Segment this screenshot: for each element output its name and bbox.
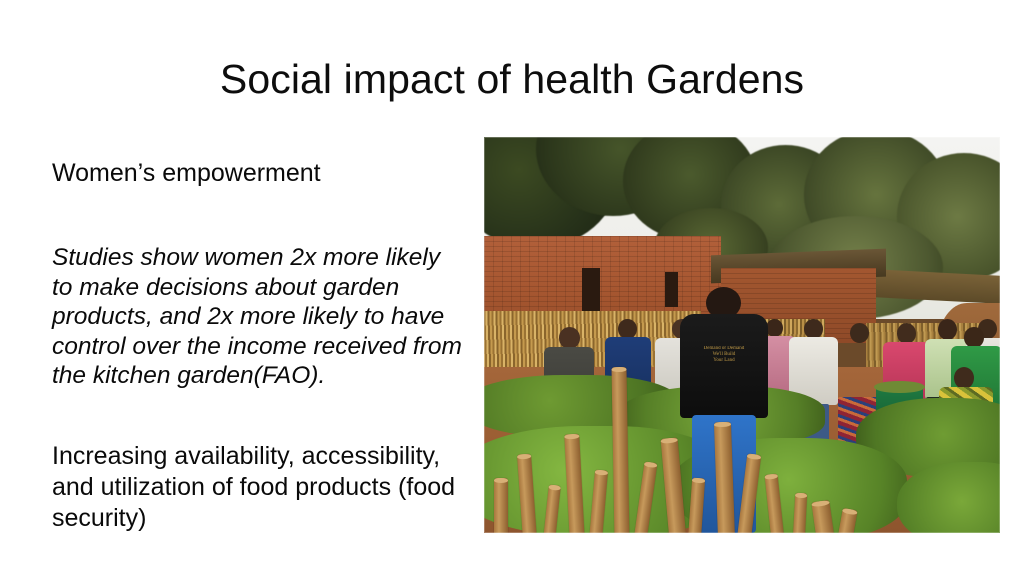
photo-scene: Demand or Demand We'll Build Your Land xyxy=(484,137,1000,533)
body-quote: Studies show women 2x more likely to mak… xyxy=(52,243,467,391)
window-opening xyxy=(582,268,600,312)
page-title: Social impact of health Gardens xyxy=(0,54,1024,104)
hoodie-print-text: Demand or Demand We'll Build Your Land xyxy=(704,346,745,364)
window-opening xyxy=(665,272,678,308)
fence-stake xyxy=(792,493,807,533)
body-heading: Women’s empowerment xyxy=(52,158,467,189)
bucket-greens xyxy=(874,381,926,394)
body-closing: Increasing availability, accessibility, … xyxy=(52,441,467,534)
garden-photo: Demand or Demand We'll Build Your Land xyxy=(484,137,1000,533)
slide: Social impact of health Gardens Women’s … xyxy=(0,0,1024,576)
fence-stake xyxy=(494,478,507,533)
body-text-column: Women’s empowerment Studies show women 2… xyxy=(52,158,467,534)
